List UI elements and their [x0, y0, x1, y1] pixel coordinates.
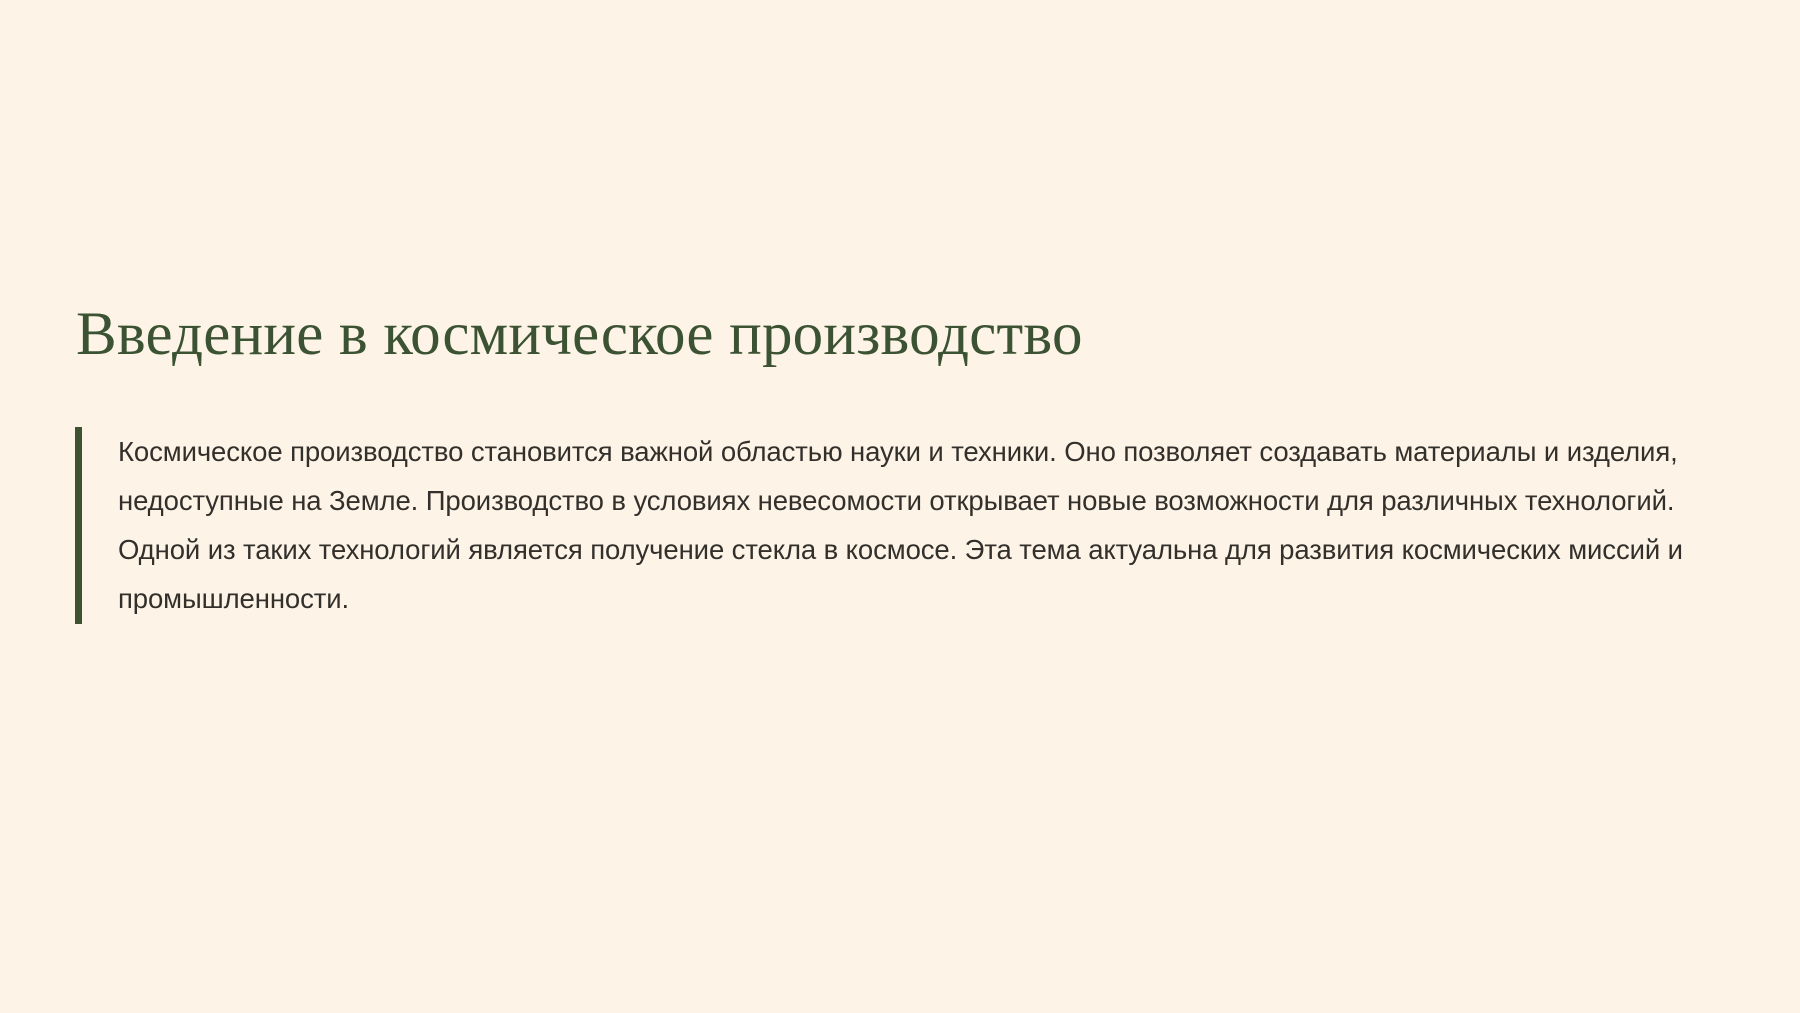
- body-text-section: Космическое производство становится важн…: [75, 427, 1735, 623]
- page-title: Введение в космическое производство: [75, 300, 1735, 371]
- body-paragraph: Космическое производство становится важн…: [118, 427, 1748, 623]
- accent-bar: [75, 427, 82, 624]
- slide-content-block: Введение в космическое производство Косм…: [75, 300, 1735, 623]
- slide-canvas: Введение в космическое производство Косм…: [0, 0, 1800, 1013]
